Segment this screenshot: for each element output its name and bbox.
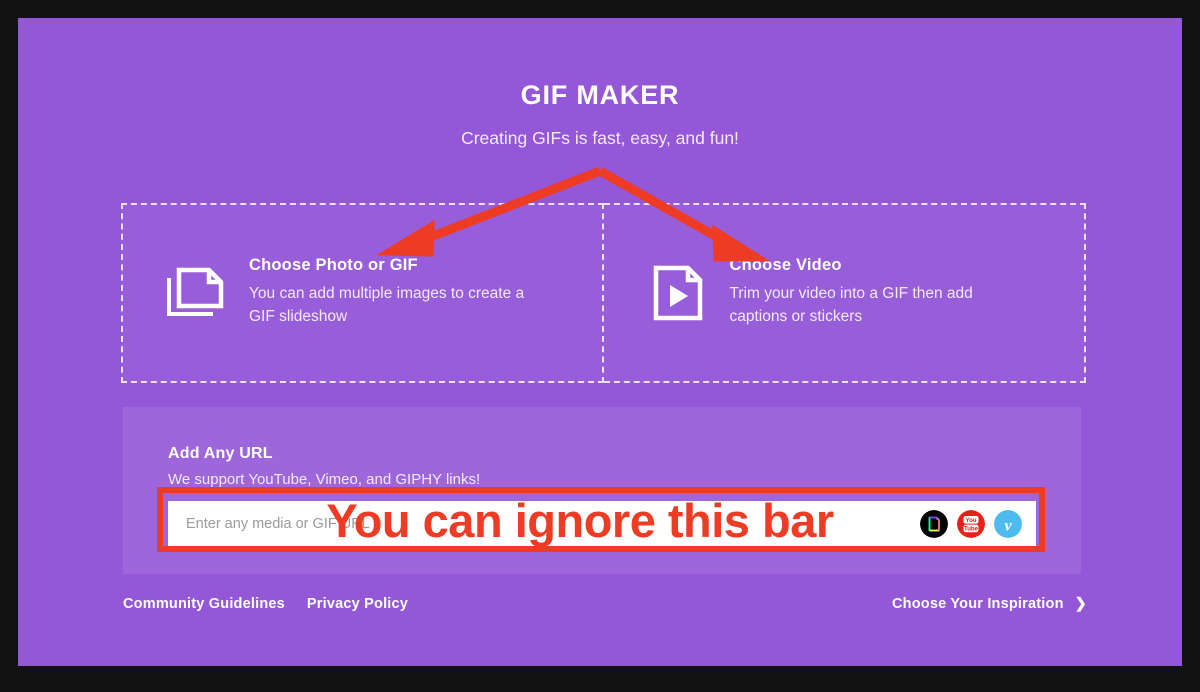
choose-your-inspiration-label: Choose Your Inspiration <box>892 596 1064 612</box>
svg-text:v: v <box>1004 518 1012 535</box>
choose-video-card[interactable]: Choose Video Trim your video into a GIF … <box>604 203 1087 383</box>
privacy-policy-link[interactable]: Privacy Policy <box>307 596 408 612</box>
youtube-icon[interactable]: You Tube <box>957 510 985 538</box>
add-url-title: Add Any URL <box>168 445 1036 463</box>
choose-your-inspiration-button[interactable]: Choose Your Inspiration ❯ <box>892 596 1087 612</box>
choose-photo-description: You can add multiple images to create a … <box>249 283 549 329</box>
choose-photo-or-gif-card[interactable]: Choose Photo or GIF You can add multiple… <box>121 203 604 383</box>
choose-photo-text: Choose Photo or GIF You can add multiple… <box>249 256 549 331</box>
choose-video-description: Trim your video into a GIF then add capt… <box>730 283 1030 329</box>
header: GIF MAKER Creating GIFs is fast, easy, a… <box>18 18 1182 149</box>
choose-video-text: Choose Video Trim your video into a GIF … <box>730 256 1030 331</box>
footer-links: Community Guidelines Privacy Policy <box>123 596 408 612</box>
footer: Community Guidelines Privacy Policy Choo… <box>123 596 1087 612</box>
add-url-panel: Add Any URL We support YouTube, Vimeo, a… <box>123 407 1081 574</box>
chevron-right-icon: ❯ <box>1075 596 1087 612</box>
page-title: GIF MAKER <box>18 80 1182 111</box>
svg-text:You: You <box>965 517 976 524</box>
community-guidelines-link[interactable]: Community Guidelines <box>123 596 285 612</box>
add-url-subtitle: We support YouTube, Vimeo, and GIPHY lin… <box>168 471 1036 488</box>
page-subtitle: Creating GIFs is fast, easy, and fun! <box>18 128 1182 149</box>
svg-text:Tube: Tube <box>964 526 979 533</box>
url-input[interactable] <box>186 516 920 532</box>
gif-maker-panel: GIF MAKER Creating GIFs is fast, easy, a… <box>18 18 1182 666</box>
choose-source-row: Choose Photo or GIF You can add multiple… <box>121 203 1086 383</box>
video-document-icon <box>646 262 708 324</box>
screenshot-root: GIF MAKER Creating GIFs is fast, easy, a… <box>0 0 1200 692</box>
provider-icons: You Tube v <box>920 510 1022 538</box>
choose-video-title: Choose Video <box>730 256 1030 275</box>
stacked-photos-icon <box>165 262 227 324</box>
choose-photo-title: Choose Photo or GIF <box>249 256 549 275</box>
url-input-row[interactable]: You Tube v <box>168 501 1036 547</box>
giphy-icon[interactable] <box>920 510 948 538</box>
vimeo-icon[interactable]: v <box>994 510 1022 538</box>
